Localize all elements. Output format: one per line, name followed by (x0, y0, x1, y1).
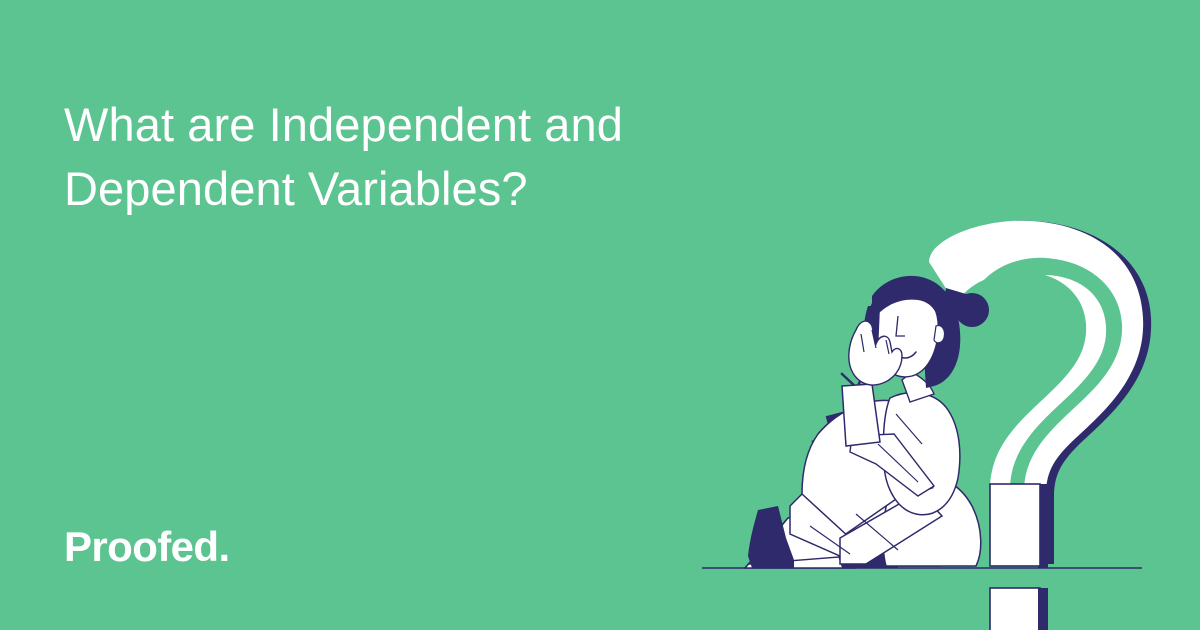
page-title: What are Independent and Dependent Varia… (64, 93, 724, 221)
thinking-woman-illustration-svg (690, 238, 1190, 598)
hero-illustration (690, 238, 1190, 598)
brand-logo: Proofed. (64, 524, 230, 570)
thinking-woman-figure (790, 276, 989, 568)
social-share-card: What are Independent and Dependent Varia… (0, 0, 1200, 630)
